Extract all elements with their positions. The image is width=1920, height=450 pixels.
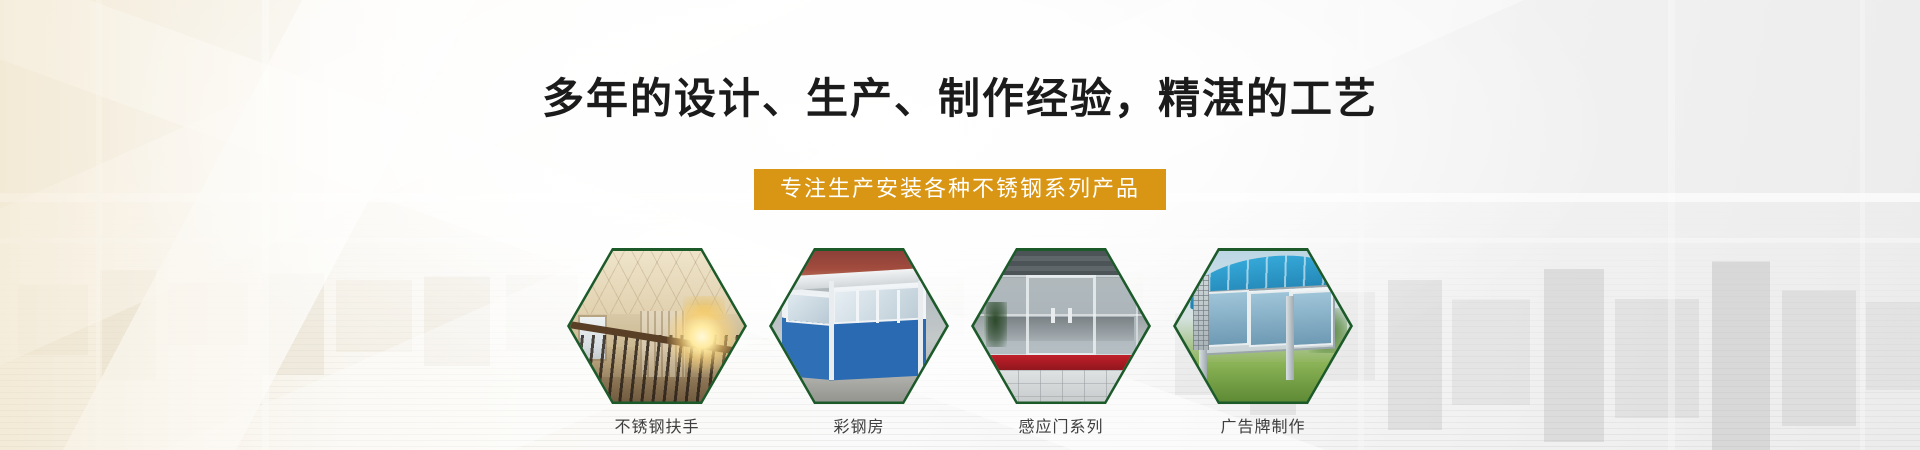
product-card-billboard-making[interactable]: 广告牌制作 (1173, 248, 1353, 436)
product-card-label: 彩钢房 (769, 420, 949, 436)
banner-subtitle-wrapper: 专注生产安装各种不锈钢系列产品 (0, 169, 1920, 210)
banner-subtitle-badge: 专注生产安装各种不锈钢系列产品 (754, 169, 1166, 210)
product-card-label: 不锈钢扶手 (567, 420, 747, 436)
hexagon-frame (971, 248, 1151, 404)
product-card-label: 感应门系列 (971, 420, 1151, 436)
product-card-stainless-handrail[interactable]: 不锈钢扶手 (567, 248, 747, 436)
outdoor-billboard-canopy-photo (1176, 251, 1350, 402)
banner-headline: 多年的设计、生产、制作经验，精湛的工艺 (0, 78, 1920, 120)
product-card-sensor-door-series[interactable]: 感应门系列 (971, 248, 1151, 436)
glass-automatic-door-photo (974, 251, 1148, 402)
product-card-label: 广告牌制作 (1173, 420, 1353, 436)
hexagon-frame (567, 248, 747, 404)
interior-handrail-chandelier-photo (570, 251, 744, 402)
product-card-color-steel-room[interactable]: 彩钢房 (769, 248, 949, 436)
hexagon-frame (1173, 248, 1353, 404)
promo-banner: 多年的设计、生产、制作经验，精湛的工艺 专注生产安装各种不锈钢系列产品 不锈钢扶… (0, 0, 1920, 450)
blue-prefab-guard-house-photo (772, 251, 946, 402)
banner-content: 多年的设计、生产、制作经验，精湛的工艺 专注生产安装各种不锈钢系列产品 不锈钢扶… (0, 0, 1920, 450)
product-card-list: 不锈钢扶手 彩钢房 (0, 248, 1920, 436)
hexagon-frame (769, 248, 949, 404)
